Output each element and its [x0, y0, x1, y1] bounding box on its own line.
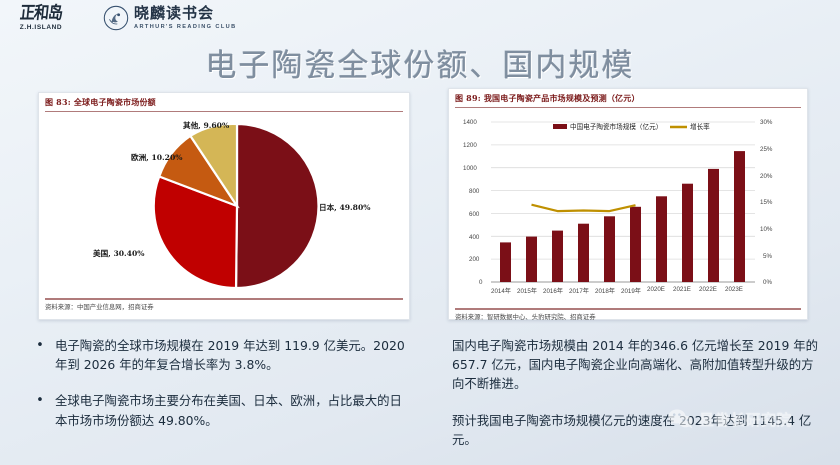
figure-89-rule: [455, 107, 801, 108]
legend-swatch-market-size: [553, 124, 567, 129]
y2-tick-10: 10%: [760, 226, 772, 233]
bar-2018: [604, 217, 615, 283]
chart-panel-global-share: 图 83: 全球电子陶瓷市场份额 其他, 9.60% 欧洲, 10.20% 日本…: [38, 92, 410, 320]
pie-slice-japan: [236, 124, 318, 288]
page-title: 电子陶瓷全球份额、国内规模: [0, 40, 840, 85]
x-tick-2015: 2015年: [517, 286, 537, 295]
chart-panel-china-forecast: 图 89: 我国电子陶瓷产品市场规模及预测（亿元）: [448, 88, 808, 320]
bar-2014: [500, 243, 511, 283]
x-tick-2018: 2018年: [595, 286, 615, 295]
zhengheisland-logo-cn: 正和岛: [19, 4, 63, 21]
y2-tick-5: 5%: [763, 253, 772, 260]
figure-83-source: 资料来源：中国产业信息网，招商证券: [45, 302, 403, 311]
logo-bar: 正和岛 Z.H.ISLAND 晓麟读书会 ARTHUR'S READING CL…: [0, 0, 840, 36]
pie-label-others: 其他, 9.60%: [183, 120, 229, 131]
legend-label-market-size: 中国电子陶瓷市场规模（亿元）: [570, 121, 662, 131]
x-tick-2021E: 2021E: [673, 286, 691, 293]
paragraph: 预计我国电子陶瓷市场规模亿元的速度在 2023年达到 1145.4 亿元。: [452, 411, 824, 449]
y-tick-800: 800: [469, 188, 479, 195]
y-tick-200: 200: [469, 256, 479, 263]
legend-label-growth-rate: 增长率: [690, 121, 710, 131]
paragraph: 国内电子陶瓷市场规模由 2014 年的346.6 亿元增长至 2019 年的 6…: [452, 336, 824, 394]
bar-2020E: [656, 197, 667, 283]
bar-chart-area: 中国电子陶瓷市场规模（亿元） 增长率 1400 1200 1000 800 60…: [455, 110, 801, 306]
figure-83-footer-rule: [45, 298, 403, 299]
x-tick-2017: 2017年: [569, 286, 589, 295]
arthur-reading-club-icon: [103, 5, 129, 31]
y-tick-600: 600: [469, 211, 479, 218]
bullet-marker: •: [34, 336, 46, 374]
y2-tick-20: 20%: [760, 173, 772, 180]
y2-tick-0: 0%: [763, 279, 772, 286]
right-text-column: 国内电子陶瓷市场规模由 2014 年的346.6 亿元增长至 2019 年的 6…: [452, 336, 824, 465]
y-tick-1000: 1000: [463, 165, 477, 172]
bar-2016: [552, 231, 563, 282]
figure-89-footer-rule: [455, 308, 801, 309]
y2-tick-15: 15%: [760, 199, 772, 206]
x-tick-2023E: 2023E: [725, 286, 743, 293]
line-series-growth-rate: [532, 205, 636, 211]
figure-89-source: 资料来源：智研数据中心、头豹研究院、招商证券: [455, 312, 801, 321]
figure-89-title: 图 89: 我国电子陶瓷产品市场规模及预测（亿元）: [455, 93, 801, 104]
y-tick-400: 400: [469, 234, 479, 241]
bar-chart-svg: [455, 110, 801, 304]
figure-83-title: 图 83: 全球电子陶瓷市场份额: [45, 97, 403, 108]
bar-2017: [578, 224, 589, 282]
zhengheisland-logo-en: Z.H.ISLAND: [20, 24, 62, 31]
bullet-item: • 电子陶瓷的全球市场规模在 2019 年达到 119.9 亿美元。2020 年…: [34, 336, 414, 374]
y-tick-1200: 1200: [463, 142, 477, 149]
bar-2019: [630, 207, 641, 282]
y2-tick-30: 30%: [760, 119, 772, 126]
bar-2022E: [708, 169, 719, 282]
x-tick-2016: 2016年: [543, 286, 563, 295]
bar-series-market-size: [500, 151, 745, 282]
bullet-item: • 全球电子陶瓷市场主要分布在美国、日本、欧洲，占比最大的日本市场市场份额达 4…: [34, 391, 414, 429]
bullet-marker: •: [34, 391, 46, 429]
bar-2023E: [734, 151, 745, 282]
arthur-logo-text: 晓麟读书会 ARTHUR'S READING CLUB: [134, 6, 237, 30]
pie-label-usa: 美国, 30.40%: [93, 248, 144, 259]
zhengheisland-logo-icon: 正和岛 Z.H.ISLAND: [8, 6, 74, 31]
bar-2021E: [682, 184, 693, 282]
arthur-logo-cn: 晓麟读书会: [134, 6, 237, 22]
left-text-column: • 电子陶瓷的全球市场规模在 2019 年达到 119.9 亿美元。2020 年…: [34, 336, 414, 447]
x-tick-2014: 2014年: [491, 286, 511, 295]
bullet-text: 电子陶瓷的全球市场规模在 2019 年达到 119.9 亿美元。2020 年到 …: [55, 336, 414, 374]
pie-label-europe: 欧洲, 10.20%: [131, 152, 182, 163]
x-tick-2020E: 2020E: [647, 286, 665, 293]
slide-canvas: 正和岛 Z.H.ISLAND 晓麟读书会 ARTHUR'S READING CL…: [0, 0, 840, 465]
y2-tick-25: 25%: [760, 146, 772, 153]
x-tick-2019: 2019年: [621, 286, 641, 295]
arthur-logo-en: ARTHUR'S READING CLUB: [134, 24, 237, 30]
bullet-text: 全球电子陶瓷市场主要分布在美国、日本、欧洲，占比最大的日本市场市场份额达 49.…: [55, 391, 414, 429]
bar-2015: [526, 237, 537, 282]
x-tick-2022E: 2022E: [699, 286, 717, 293]
pie-chart-area: 其他, 9.60% 欧洲, 10.20% 日本, 49.80% 美国, 30.4…: [45, 114, 403, 296]
y-tick-1400: 1400: [463, 119, 477, 126]
arthur-reading-club-logo: 晓麟读书会 ARTHUR'S READING CLUB: [103, 5, 237, 31]
y-tick-0: 0: [479, 279, 482, 286]
pie-label-japan: 日本, 49.80%: [319, 202, 370, 213]
figure-83-rule: [45, 111, 403, 112]
